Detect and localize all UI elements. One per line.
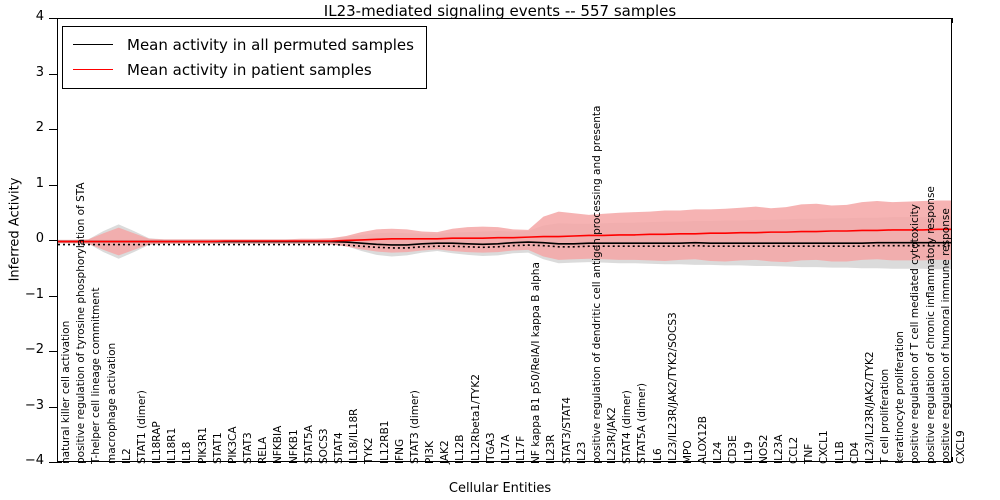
x-tick-label: keratinocyte proliferation	[895, 331, 906, 464]
x-tick-label: ITGA3	[486, 432, 497, 464]
y-tick-mark	[49, 129, 57, 130]
x-tick-label: IL12Rbeta1/TYK2	[471, 374, 482, 464]
x-tick-label: CD3E	[728, 435, 739, 464]
y-tick-label: 2	[0, 120, 44, 135]
x-tick-label: NOS2	[759, 435, 770, 464]
x-tick-label: STAT3/STAT4	[562, 397, 573, 464]
x-tick-label: IL1B	[835, 441, 846, 464]
x-tick-label: CXCL1	[819, 430, 830, 464]
x-tick-label: PI3K	[425, 441, 436, 464]
y-tick-label: −4	[0, 453, 44, 468]
x-tick-label: positive regulation of dendritic cell an…	[592, 106, 603, 464]
y-tick-mark	[49, 296, 57, 297]
x-tick-label: NF kappa B1 p50/RelA/I kappa B alpha	[531, 262, 542, 464]
x-tick-mark	[952, 457, 953, 462]
x-tick-label: IL18	[182, 442, 193, 464]
x-tick-label: NFKBIA	[273, 426, 284, 464]
x-tick-label: IL23/IL23R/JAK2/TYK2	[865, 351, 876, 464]
x-tick-label: STAT5A	[304, 425, 315, 464]
x-tick-label: NFKB1	[289, 429, 300, 464]
confidence-bands	[58, 200, 952, 269]
x-tick-label: natural killer cell activation	[61, 321, 72, 464]
x-tick-label: IL17F	[516, 436, 527, 464]
x-tick-label: JAK2	[440, 440, 451, 464]
chart-legend: Mean activity in all permuted samples Me…	[62, 26, 427, 89]
legend-entry-permuted: Mean activity in all permuted samples	[73, 32, 414, 57]
x-tick-label: IL18RAP	[152, 421, 163, 464]
x-tick-mark-top	[952, 18, 953, 23]
x-tick-label: IL23A	[774, 435, 785, 465]
chart-figure: IL23-mediated signaling events -- 557 sa…	[0, 0, 1000, 500]
legend-swatch-patient	[73, 69, 113, 70]
x-tick-label: IL2	[122, 448, 133, 464]
x-tick-label: IL23R/JAK2	[607, 407, 618, 464]
x-tick-label: PIK3CA	[228, 426, 239, 464]
x-tick-label: STAT5A (dimer)	[637, 383, 648, 464]
legend-label-patient: Mean activity in patient samples	[127, 61, 372, 79]
x-tick-label: IL6	[653, 448, 664, 464]
x-tick-label: T cell proliferation	[880, 369, 891, 464]
x-tick-label: IL19	[744, 442, 755, 464]
x-tick-label: STAT3	[243, 432, 254, 464]
x-tick-label: PIK3R1	[198, 427, 209, 464]
x-tick-label: IL23R	[546, 434, 557, 464]
x-tick-label: IL18/IL18R	[349, 409, 360, 464]
x-tick-label: MPO	[683, 440, 694, 464]
x-tick-label: ALOX12B	[698, 416, 709, 464]
x-tick-label: CXCL9	[956, 430, 967, 464]
x-tick-label: RELA	[258, 437, 269, 464]
y-tick-mark	[49, 462, 57, 463]
y-tick-mark	[49, 185, 57, 186]
x-tick-label: IL18R1	[167, 428, 178, 464]
x-tick-label: TYK2	[364, 438, 375, 464]
x-tick-label: STAT1 (dimer)	[137, 390, 148, 464]
x-tick-label: macrophage activation	[107, 343, 118, 464]
x-tick-label: positive regulation of chronic inflammat…	[926, 186, 937, 464]
y-tick-mark	[49, 18, 57, 19]
x-tick-label: TNF	[804, 444, 815, 464]
x-tick-label: positive regulation of T cell mediated c…	[910, 204, 921, 464]
x-tick-label: IL24	[713, 442, 724, 464]
x-tick-label: STAT1	[213, 432, 224, 464]
y-tick-label: −3	[0, 398, 44, 413]
x-tick-label: SOCS3	[319, 428, 330, 464]
x-tick-label: IL23	[577, 442, 588, 464]
y-tick-mark	[49, 240, 57, 241]
y-tick-mark	[49, 407, 57, 408]
y-tick-label: −2	[0, 342, 44, 357]
x-tick-label: IFNG	[395, 439, 406, 464]
x-tick-label: CCL2	[789, 437, 800, 464]
y-tick-label: 4	[0, 9, 44, 24]
y-tick-mark	[49, 74, 57, 75]
x-tick-label: IL23/IL23R/JAK2/TYK2/SOCS3	[668, 312, 679, 464]
x-tick-label: T-helper cell lineage commitment	[91, 288, 102, 464]
x-tick-label: positive regulation of humoral immune re…	[941, 208, 952, 464]
legend-entry-patient: Mean activity in patient samples	[73, 57, 414, 82]
x-tick-label: IL12RB1	[380, 421, 391, 465]
legend-swatch-permuted	[73, 44, 113, 45]
x-tick-label: STAT4	[334, 432, 345, 464]
x-tick-label: IL17A	[501, 435, 512, 465]
legend-label-permuted: Mean activity in all permuted samples	[127, 36, 414, 54]
x-axis-label: Cellular Entities	[0, 481, 1000, 496]
x-tick-label: STAT4 (dimer)	[622, 390, 633, 464]
x-tick-label: STAT3 (dimer)	[410, 390, 421, 464]
x-tick-label: positive regulation of tyrosine phosphor…	[76, 182, 87, 464]
y-tick-mark	[49, 351, 57, 352]
x-tick-label: IL12B	[455, 434, 466, 464]
y-tick-label: 0	[0, 231, 44, 246]
y-tick-label: 1	[0, 176, 44, 191]
y-tick-label: 3	[0, 65, 44, 80]
x-tick-label: CD4	[850, 442, 861, 464]
y-tick-label: −1	[0, 287, 44, 302]
